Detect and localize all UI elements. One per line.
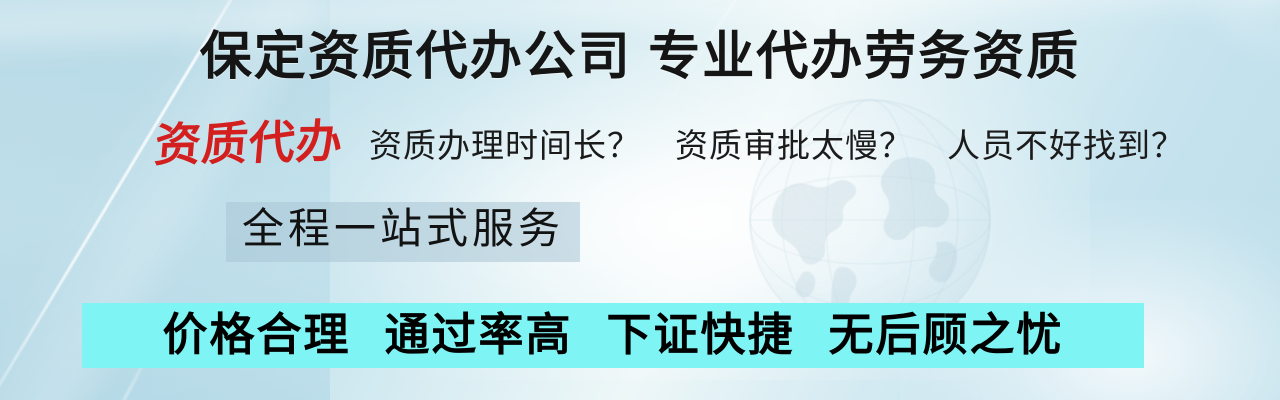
pain-point-1: 资质办理时间长？ (369, 119, 641, 167)
banner-headline: 保定资质代办公司 专业代办劳务资质 (0, 14, 1280, 89)
promo-point-1: 价格合理 (162, 312, 350, 357)
brush-tag-qualification-agency: 资质代办 (153, 118, 349, 168)
promo-point-3: 下证快捷 (607, 312, 795, 357)
service-chip: 全程一站式服务 (226, 202, 580, 262)
promo-point-4: 无后顾之忧 (829, 312, 1064, 357)
promo-highlight-bar: 价格合理 通过率高 下证快捷 无后顾之忧 (82, 303, 1144, 368)
pain-point-2: 资质审批太慢？ (675, 119, 913, 167)
pain-points-list: 资质办理时间长？ 资质审批太慢？ 人员不好找到？ (369, 119, 1185, 167)
qualification-agency-banner: 保定资质代办公司 专业代办劳务资质 资质代办 资质办理时间长？ 资质审批太慢？ … (0, 0, 1280, 400)
promo-points-list: 价格合理 通过率高 下证快捷 无后顾之忧 (162, 312, 1063, 360)
promo-point-2: 通过率高 (384, 312, 572, 357)
pain-points-row: 资质代办 资质办理时间长？ 资质审批太慢？ 人员不好找到？ (155, 112, 1215, 174)
pain-point-3: 人员不好找到？ (947, 119, 1185, 167)
